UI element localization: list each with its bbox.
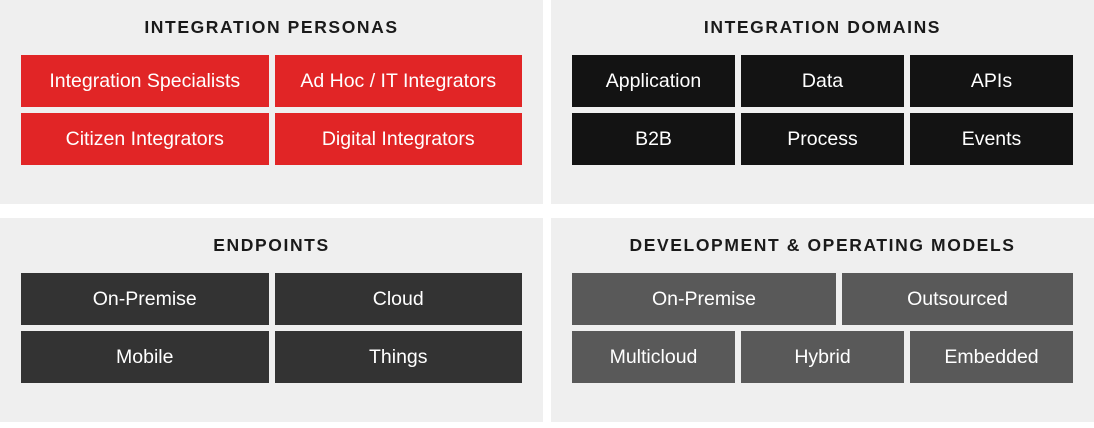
chip-events[interactable]: Events	[910, 113, 1073, 165]
card-title-development-operating-models: DEVELOPMENT & OPERATING MODELS	[572, 218, 1073, 273]
chip-data[interactable]: Data	[741, 55, 904, 107]
chip-outsourced[interactable]: Outsourced	[842, 273, 1073, 325]
chip-mobile[interactable]: Mobile	[21, 331, 269, 383]
card-development-operating-models: DEVELOPMENT & OPERATING MODELS On-Premis…	[551, 218, 1094, 422]
card-title-integration-domains: INTEGRATION DOMAINS	[572, 0, 1073, 55]
chip-ad-hoc-it-integrators[interactable]: Ad Hoc / IT Integrators	[275, 55, 523, 107]
chip-row: Mobile Things	[21, 331, 522, 383]
chip-cloud[interactable]: Cloud	[275, 273, 523, 325]
chip-application[interactable]: Application	[572, 55, 735, 107]
chip-row: Integration Specialists Ad Hoc / IT Inte…	[21, 55, 522, 107]
chip-things[interactable]: Things	[275, 331, 523, 383]
chip-row: B2B Process Events	[572, 113, 1073, 165]
card-integration-personas: INTEGRATION PERSONAS Integration Special…	[0, 0, 543, 204]
chip-embedded[interactable]: Embedded	[910, 331, 1073, 383]
chip-on-premise[interactable]: On-Premise	[572, 273, 836, 325]
chip-row: Citizen Integrators Digital Integrators	[21, 113, 522, 165]
chip-integration-specialists[interactable]: Integration Specialists	[21, 55, 269, 107]
chip-process[interactable]: Process	[741, 113, 904, 165]
chip-multicloud[interactable]: Multicloud	[572, 331, 735, 383]
chip-on-premise[interactable]: On-Premise	[21, 273, 269, 325]
chip-digital-integrators[interactable]: Digital Integrators	[275, 113, 523, 165]
chip-row: On-Premise Outsourced	[572, 273, 1073, 325]
chip-rows-endpoints: On-Premise Cloud Mobile Things	[21, 273, 522, 383]
chip-row: Application Data APIs	[572, 55, 1073, 107]
chip-rows-integration-personas: Integration Specialists Ad Hoc / IT Inte…	[21, 55, 522, 165]
chip-apis[interactable]: APIs	[910, 55, 1073, 107]
card-title-integration-personas: INTEGRATION PERSONAS	[21, 0, 522, 55]
chip-rows-development-operating-models: On-Premise Outsourced Multicloud Hybrid …	[572, 273, 1073, 383]
chip-hybrid[interactable]: Hybrid	[741, 331, 904, 383]
chip-citizen-integrators[interactable]: Citizen Integrators	[21, 113, 269, 165]
chip-row: Multicloud Hybrid Embedded	[572, 331, 1073, 383]
card-endpoints: ENDPOINTS On-Premise Cloud Mobile Things	[0, 218, 543, 422]
chip-rows-integration-domains: Application Data APIs B2B Process Events	[572, 55, 1073, 165]
quadrant-grid: INTEGRATION PERSONAS Integration Special…	[0, 0, 1094, 428]
chip-b2b[interactable]: B2B	[572, 113, 735, 165]
card-title-endpoints: ENDPOINTS	[21, 218, 522, 273]
chip-row: On-Premise Cloud	[21, 273, 522, 325]
card-integration-domains: INTEGRATION DOMAINS Application Data API…	[551, 0, 1094, 204]
